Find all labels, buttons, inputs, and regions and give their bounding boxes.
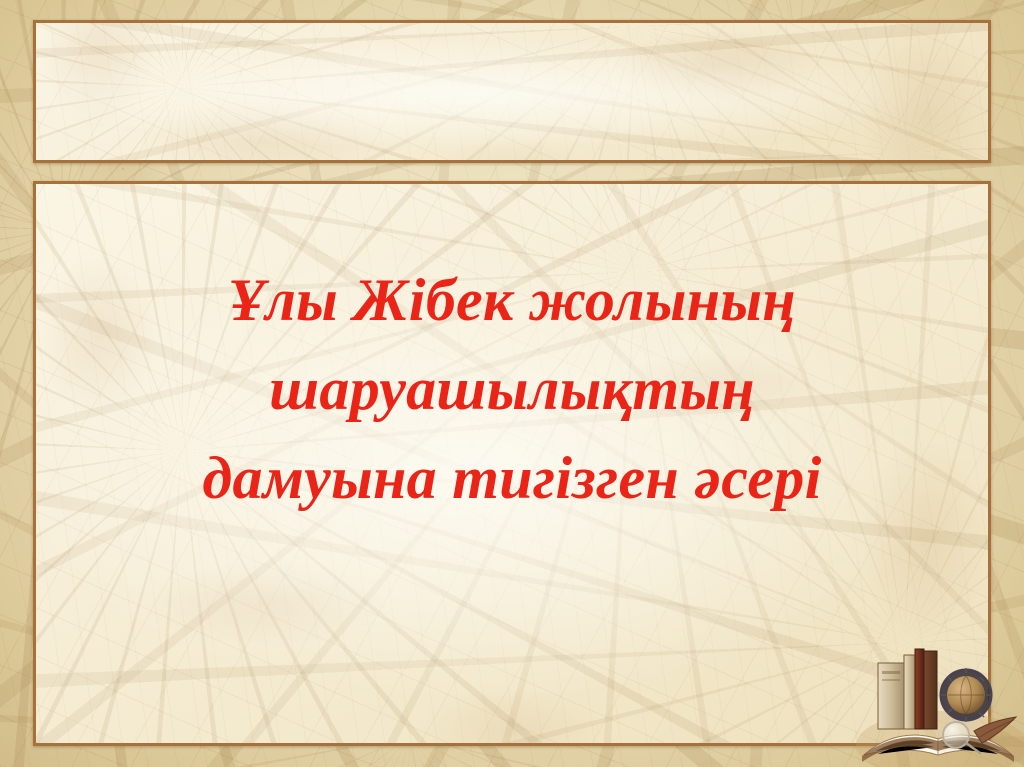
content-frame[interactable]: Ұлы Жібек жолының шаруашылықтың дамуына … [33,181,991,746]
globe-icon [941,668,991,722]
heading-line-3: дамуына тигізген әсері [50,434,974,523]
slide-canvas: Ұлы Жібек жолының шаруашылықтың дамуына … [0,0,1024,767]
standing-books [878,649,937,729]
heading-line-1: Ұлы Жібек жолының [50,256,974,345]
page-title: Ұлы Жібек жолының шаруашылықтың дамуына … [36,256,988,523]
title-placeholder-text[interactable] [36,23,988,160]
books-globe-illustration [856,627,1024,767]
title-placeholder-frame[interactable] [33,20,991,163]
heading-line-2: шаруашылықтың [50,345,974,434]
